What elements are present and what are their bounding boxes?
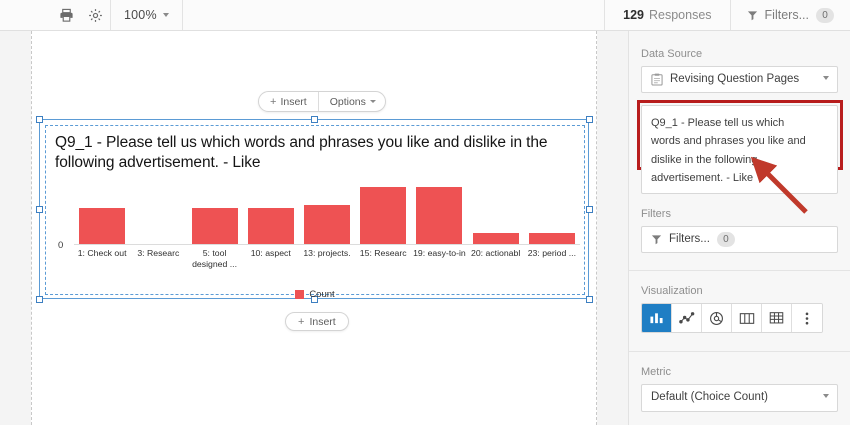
insert-button-bottom[interactable]: + Insert xyxy=(285,312,349,331)
columns-icon xyxy=(739,312,755,325)
resize-handle-bottom-left[interactable] xyxy=(36,296,43,303)
table-icon xyxy=(769,311,784,325)
bar-cell[interactable] xyxy=(468,180,524,244)
x-axis-label: 20: actionabl xyxy=(468,248,524,269)
bar-series xyxy=(74,180,580,244)
bar-cell[interactable] xyxy=(243,180,299,244)
viz-line-chart-button[interactable] xyxy=(672,304,702,332)
viz-donut-chart-button[interactable] xyxy=(702,304,732,332)
report-canvas[interactable]: + Insert Options Q9_1 - Please tell us w… xyxy=(0,31,628,425)
toolbar-right-group: 129 Responses Filters... 0 xyxy=(604,0,850,30)
visualization-section: Visualization xyxy=(629,271,850,333)
three-dots-vertical-icon xyxy=(805,311,809,326)
panel-filters-dropdown[interactable]: Filters... 0 xyxy=(641,226,838,253)
x-axis-label: 23: period ... xyxy=(524,248,580,269)
bar[interactable] xyxy=(304,205,350,244)
metric-section: Metric Default (Choice Count) xyxy=(629,352,850,411)
viz-bar-chart-button[interactable] xyxy=(642,304,672,332)
bar[interactable] xyxy=(79,208,125,245)
chevron-down-icon xyxy=(163,13,169,17)
toolbar-filters-label: Filters... xyxy=(765,8,809,22)
x-axis-line xyxy=(74,244,580,245)
data-source-label: Data Source xyxy=(641,48,838,60)
bar-chart-icon xyxy=(649,311,664,325)
question-dropdown[interactable]: Q9_1 - Please tell us which words and ph… xyxy=(641,105,838,194)
chart-legend: Count xyxy=(55,289,575,300)
top-toolbar: 100% 129 Responses Filters... 0 xyxy=(0,0,850,31)
more-options-icon[interactable] xyxy=(792,304,822,332)
question-dropdown-wrapper: Q9_1 - Please tell us which words and ph… xyxy=(641,105,838,194)
resize-handle-bottom-right[interactable] xyxy=(586,296,593,303)
chevron-down-icon xyxy=(370,100,376,103)
options-button[interactable]: Options xyxy=(318,92,385,111)
chevron-down-icon xyxy=(753,164,759,185)
chart-plot-area: 0 xyxy=(60,179,580,245)
zoom-level-dropdown[interactable]: 100% xyxy=(111,0,182,30)
metric-dropdown[interactable]: Default (Choice Count) xyxy=(641,384,838,411)
plus-icon: + xyxy=(298,316,304,328)
print-icon[interactable] xyxy=(52,0,81,30)
filters-section: Filters Filters... 0 xyxy=(629,194,850,253)
resize-handle-middle-left[interactable] xyxy=(36,206,43,213)
chart-widget[interactable]: Q9_1 - Please tell us which words and ph… xyxy=(45,125,585,295)
toolbar-filters-button[interactable]: Filters... 0 xyxy=(730,0,850,30)
responses-count: 129 xyxy=(623,8,644,22)
margin-guide-left xyxy=(31,31,32,425)
chart-title: Q9_1 - Please tell us which words and ph… xyxy=(55,133,575,173)
filter-funnel-icon xyxy=(747,10,758,21)
bar[interactable] xyxy=(192,208,238,245)
options-label: Options xyxy=(330,96,366,108)
bar-cell[interactable] xyxy=(130,180,186,244)
bar[interactable] xyxy=(360,187,406,244)
x-axis-label: 19: easy-to-in xyxy=(411,248,467,269)
bar[interactable] xyxy=(416,187,462,244)
app-root: 100% 129 Responses Filters... 0 xyxy=(0,0,850,425)
bar-cell[interactable] xyxy=(299,180,355,244)
legend-label-count: Count xyxy=(309,289,334,300)
responses-label: Responses xyxy=(649,8,712,22)
x-axis-labels: 1: Check out3: Researc5: tool designed .… xyxy=(74,248,580,269)
chevron-down-icon xyxy=(823,394,829,398)
x-axis-label: 15: Researc xyxy=(355,248,411,269)
toolbar-spacer xyxy=(183,0,604,30)
plus-icon: + xyxy=(270,96,276,108)
insert-options-toolbar: + Insert Options xyxy=(258,91,386,112)
clipboard-icon xyxy=(651,73,663,86)
resize-handle-top-right[interactable] xyxy=(586,116,593,123)
chevron-down-icon xyxy=(823,76,829,80)
bar-cell[interactable] xyxy=(355,180,411,244)
visualization-type-group xyxy=(641,303,823,333)
bar-cell[interactable] xyxy=(74,180,130,244)
viz-columns-button[interactable] xyxy=(732,304,762,332)
question-dropdown-value: Q9_1 - Please tell us which words and ph… xyxy=(651,117,806,184)
filter-funnel-icon xyxy=(651,234,662,245)
x-axis-label: 13: projects. xyxy=(299,248,355,269)
bar[interactable] xyxy=(473,233,519,244)
bar[interactable] xyxy=(248,208,294,245)
insert-label-top: Insert xyxy=(280,96,306,108)
breakout-section: Breakout xyxy=(629,412,850,425)
bar-cell[interactable] xyxy=(411,180,467,244)
panel-filters-value: Filters... xyxy=(669,232,710,247)
gear-icon[interactable] xyxy=(81,0,110,30)
right-config-panel: Data Source Revising Question Pages Q9_1… xyxy=(628,31,850,425)
x-axis-label: 3: Researc xyxy=(130,248,186,269)
insert-button-top[interactable]: + Insert xyxy=(259,92,318,111)
visualization-label: Visualization xyxy=(641,285,838,297)
donut-chart-icon xyxy=(709,311,724,326)
x-axis-label: 5: tool designed ... xyxy=(186,248,242,269)
toolbar-left-group: 100% xyxy=(0,0,183,30)
y-axis-tick-0: 0 xyxy=(58,240,63,251)
data-source-dropdown[interactable]: Revising Question Pages xyxy=(641,66,838,93)
resize-handle-top-center[interactable] xyxy=(311,116,318,123)
filters-section-label: Filters xyxy=(641,208,838,220)
legend-swatch-count xyxy=(295,290,304,299)
margin-guide-right xyxy=(596,31,597,425)
bar-cell[interactable] xyxy=(186,180,242,244)
viz-table-button[interactable] xyxy=(762,304,792,332)
panel-filters-badge: 0 xyxy=(717,232,735,247)
toolbar-filters-badge: 0 xyxy=(816,8,834,23)
resize-handle-top-left[interactable] xyxy=(36,116,43,123)
data-source-value: Revising Question Pages xyxy=(670,72,828,87)
metric-value: Default (Choice Count) xyxy=(651,390,828,405)
data-source-section: Data Source Revising Question Pages Q9_1… xyxy=(629,31,850,194)
insert-label-bottom: Insert xyxy=(309,316,335,328)
resize-handle-middle-right[interactable] xyxy=(586,206,593,213)
selected-widget-frame[interactable]: Q9_1 - Please tell us which words and ph… xyxy=(39,119,589,299)
responses-counter[interactable]: 129 Responses xyxy=(604,0,729,30)
line-chart-icon xyxy=(679,311,695,325)
x-axis-label: 1: Check out xyxy=(74,248,130,269)
zoom-level-value: 100% xyxy=(124,8,157,22)
bar-cell[interactable] xyxy=(524,180,580,244)
x-axis-label: 10: aspect xyxy=(243,248,299,269)
bar[interactable] xyxy=(529,233,575,244)
metric-label: Metric xyxy=(641,366,838,378)
